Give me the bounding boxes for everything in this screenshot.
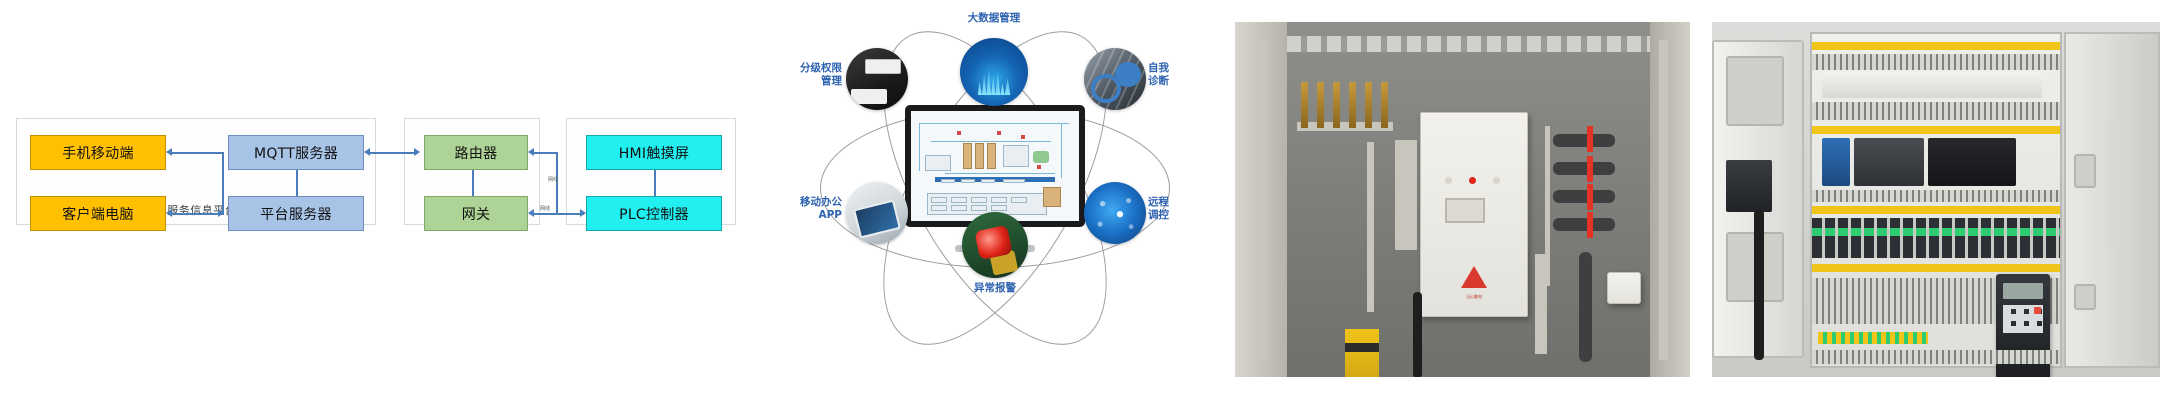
- vfd-stop-key[interactable]: [2034, 307, 2041, 314]
- mounting-frame: [1367, 142, 1374, 312]
- wire-label-1: 网线: [548, 176, 558, 183]
- control-panel-enclosure: 当心触电: [1420, 112, 1528, 317]
- connector-router-feed-h: [534, 152, 558, 154]
- valve-handle-red: [1587, 212, 1593, 238]
- wheel-item-remote[interactable]: [1084, 182, 1146, 244]
- wire-duct: [1812, 42, 2060, 50]
- cabinet-top-vent: [1287, 36, 1650, 52]
- manifold-valve: [1381, 82, 1388, 128]
- pipe-elbow: [1553, 218, 1615, 231]
- node-pc-client[interactable]: 客户端电脑: [30, 196, 166, 231]
- access-level-icon: [846, 48, 908, 110]
- terminal-row: [1812, 190, 2060, 202]
- node-mqtt-server[interactable]: MQTT服务器: [228, 135, 364, 170]
- electric-shock-warning-icon: [1461, 266, 1487, 288]
- tablet-icon: [846, 182, 908, 244]
- manifold-valve: [1349, 82, 1356, 128]
- connector-platform-to-client: [172, 213, 224, 215]
- architecture-diagram: 云服务信息平台 标配网络设备 标配控制设备 网: [0, 0, 760, 400]
- node-label: 网关: [462, 204, 491, 224]
- wheel-label-diagnosis: 自我 诊断: [1148, 62, 1208, 88]
- pipe-elbow: [1553, 134, 1615, 147]
- arrowhead-to-platform: [218, 209, 224, 217]
- wheel-item-alarm[interactable]: [962, 212, 1028, 278]
- door-mounted-inverter: [1726, 160, 1772, 212]
- cabinet-open-door: [1712, 40, 1804, 358]
- vertical-pipe: [1579, 252, 1592, 362]
- node-label: 路由器: [455, 143, 498, 163]
- stethoscope-icon: [1084, 48, 1146, 110]
- wheel-label-mobile-app: 移动办公 APP: [774, 196, 842, 222]
- door-cutout: [1726, 56, 1784, 126]
- node-label: HMI触摸屏: [619, 143, 690, 163]
- arrowhead-mqtt-left: [364, 148, 370, 156]
- node-hmi-touch-panel[interactable]: HMI触摸屏: [586, 135, 722, 170]
- alarm-beacon-icon: [962, 212, 1028, 278]
- iot-capability-wheel: 大数据管理 自我 诊断 远程 调控 异常报警 移动办公 APP 分级权限 管理: [760, 0, 1230, 400]
- node-label: MQTT服务器: [254, 143, 338, 163]
- latch-bracket: [2074, 154, 2096, 188]
- latch-bracket: [2074, 284, 2096, 310]
- indicator-lamp: [1445, 177, 1452, 184]
- wheel-label-authority: 分级权限 管理: [770, 62, 842, 88]
- connector-router-down-feed: [556, 152, 558, 214]
- network-touch-icon: [1084, 182, 1146, 244]
- node-label: 客户端电脑: [62, 204, 134, 224]
- cabinet-rail-left: [1259, 40, 1268, 360]
- node-router[interactable]: 路由器: [424, 135, 528, 170]
- breaker-bank: [1822, 72, 2042, 98]
- node-label: 手机移动端: [62, 143, 134, 163]
- plc-io-module: [1928, 138, 2016, 186]
- wire-duct: [1812, 126, 2060, 134]
- wire-duct: [1812, 264, 2060, 272]
- monitor-screen: [911, 111, 1079, 221]
- side-cable: [2108, 124, 2114, 244]
- cabinet-right-side-panel: [2064, 32, 2160, 368]
- warning-label-text: 当心触电: [1466, 294, 1482, 300]
- figure-canvas: 云服务信息平台 标配网络设备 标配控制设备 网: [0, 0, 2160, 400]
- arrowhead-router-right: [414, 148, 420, 156]
- connector-mqtt-to-mobile: [172, 152, 224, 154]
- plc-control-cabinet-photo: [1712, 22, 2160, 377]
- node-platform-server[interactable]: 平台服务器: [228, 196, 364, 231]
- pipe-elbow: [1553, 162, 1615, 175]
- terminal-row: [1812, 102, 2060, 120]
- cable-bundle: [1413, 292, 1422, 377]
- equipment-cabinet-photo: 当心触电: [1235, 22, 1690, 377]
- pipe-elbow: [1553, 190, 1615, 203]
- wheel-item-authority[interactable]: [846, 48, 908, 110]
- manifold-bar: [1297, 122, 1393, 131]
- wheel-item-bigdata[interactable]: [960, 38, 1028, 106]
- plc-cpu-module: [1854, 138, 1924, 186]
- node-gateway[interactable]: 网关: [424, 196, 528, 231]
- panel-display: [1445, 198, 1485, 223]
- node-plc-controller[interactable]: PLC控制器: [586, 196, 722, 231]
- vfd-display: [2003, 283, 2043, 299]
- cabinet-right-door: [1650, 22, 1690, 377]
- door-cable: [1754, 210, 1764, 360]
- valve-handle-red: [1587, 156, 1593, 182]
- arrowhead-gateway-left: [528, 209, 534, 217]
- relay-bank: [1812, 218, 2060, 258]
- wheel-label-bigdata: 大数据管理: [944, 12, 1044, 25]
- wheel-item-mobile-app[interactable]: [846, 182, 908, 244]
- arrowhead-to-client: [166, 209, 172, 217]
- wheel-label-alarm: 异常报警: [945, 282, 1045, 295]
- wheel-item-diagnosis[interactable]: [1084, 48, 1146, 110]
- wire-label-2: 网线: [540, 205, 550, 212]
- connector-mqtt-to-mobile-vert: [222, 152, 224, 214]
- valve-handle-red: [1587, 184, 1593, 210]
- cabinet-backplate: [1810, 32, 2062, 368]
- terminal-row: [1812, 350, 2060, 364]
- valve-handle-red: [1587, 126, 1593, 152]
- sensor-transmitter: [1607, 272, 1641, 304]
- arrowhead-to-mobile: [166, 148, 172, 156]
- node-mobile-client[interactable]: 手机移动端: [30, 135, 166, 170]
- wire-duct: [1812, 206, 2060, 214]
- indicator-lamp-red: [1469, 177, 1476, 184]
- wheel-label-remote: 远程 调控: [1148, 196, 1208, 222]
- indicator-lamp: [1493, 177, 1500, 184]
- vertical-pipe-grey: [1535, 254, 1547, 354]
- power-supply-module: [1822, 138, 1850, 186]
- ground-terminal-bar: [1818, 332, 1928, 344]
- connector-mqtt-router: [370, 152, 418, 154]
- node-label: PLC控制器: [619, 204, 689, 224]
- yellow-drum: [1345, 329, 1379, 377]
- mounting-frame: [1395, 140, 1417, 250]
- manifold-valve: [1365, 82, 1372, 128]
- terminal-row: [1812, 54, 2060, 70]
- manifold-valve: [1317, 82, 1324, 128]
- monitor-bezel: [905, 105, 1085, 227]
- arrowhead-router-feed: [528, 148, 534, 156]
- manifold-valve: [1301, 82, 1308, 128]
- bar-chart-icon: [960, 38, 1028, 106]
- connector-gateway-plc: [534, 213, 584, 215]
- cabinet-rail-right: [1659, 40, 1668, 360]
- manifold-valve: [1333, 82, 1340, 128]
- node-label: 平台服务器: [260, 204, 332, 224]
